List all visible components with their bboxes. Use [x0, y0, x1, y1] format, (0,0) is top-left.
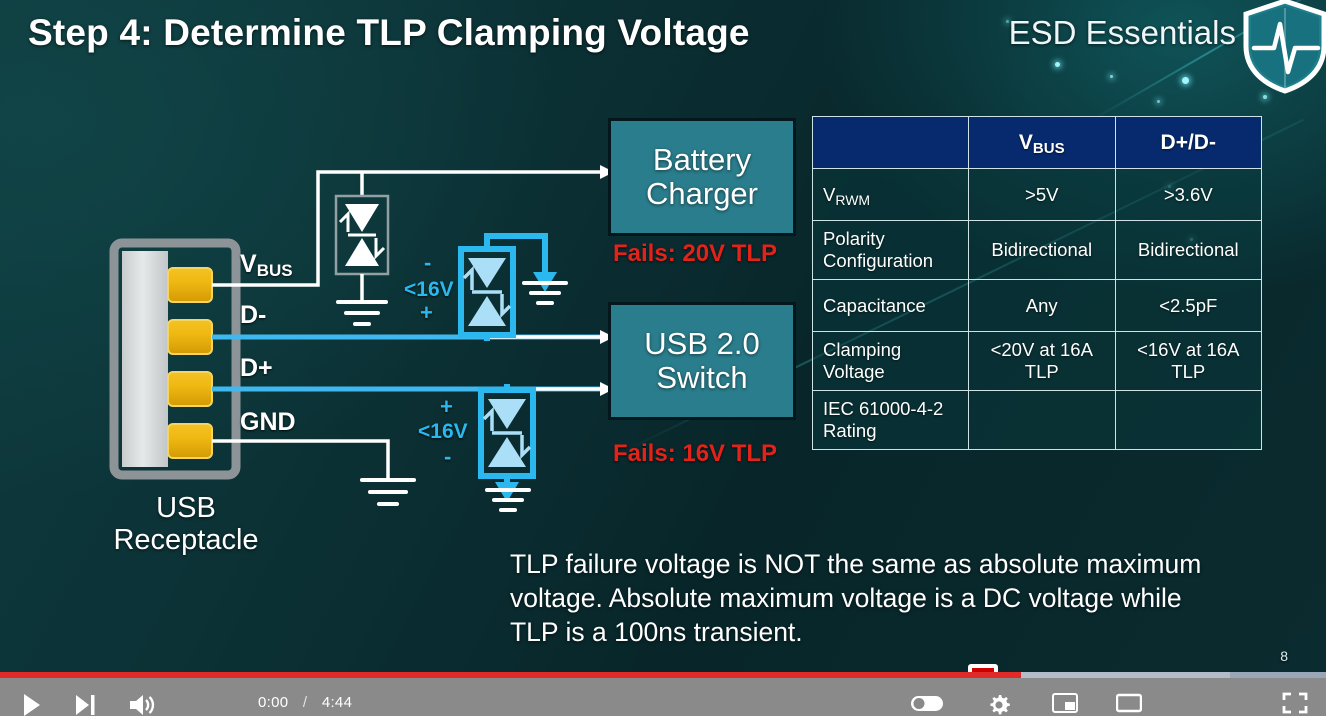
battery-charger-fail-label: Fails: 20V TLP	[613, 240, 777, 268]
cell-capacitance-vbus: Any	[969, 280, 1116, 332]
slide-number: 8	[1280, 648, 1288, 664]
slide-canvas: Step 4: Determine TLP Clamping Voltage E…	[0, 0, 1326, 672]
usb-switch-fail-label: Fails: 16V TLP	[613, 440, 777, 468]
controls-row: 0:00 / 4:44	[0, 678, 1326, 716]
table-header-vbus: VBUS	[969, 117, 1116, 169]
usb-caption-line1: USB	[96, 492, 276, 524]
tvs-top-minus-sign: -	[424, 250, 431, 276]
usb-switch-line1: USB 2.0	[644, 327, 759, 361]
pin-label-dplus: D+	[240, 354, 273, 383]
slide-caption: TLP failure voltage is NOT the same as a…	[510, 548, 1210, 650]
block-battery-charger: Battery Charger	[608, 118, 796, 236]
decorative-particle	[1110, 75, 1113, 78]
table-header-row: VBUS D+/D-	[813, 117, 1262, 169]
pin-label-dminus: D-	[240, 301, 266, 330]
table-row: IEC 61000-4-2 Rating	[813, 391, 1262, 450]
theater-mode-icon[interactable]	[1116, 692, 1142, 714]
texas-instruments-logo: TEXAS INSTRUMENTS	[966, 656, 1216, 672]
decorative-particle	[1182, 77, 1189, 84]
row-label-polarity: Polarity Configuration	[813, 221, 969, 280]
requirements-table: VBUS D+/D- VRWM >5V >3.6V Polarity Confi…	[812, 116, 1262, 450]
pin-label-gnd: GND	[240, 408, 296, 437]
fullscreen-icon[interactable]	[1282, 692, 1308, 714]
pin-label-vbus: VBUS	[240, 250, 293, 279]
decorative-particle	[1263, 95, 1267, 99]
play-icon[interactable]	[18, 692, 44, 716]
cell-iec-vbus	[969, 391, 1116, 450]
row-label-vrwm: VRWM	[813, 169, 969, 221]
duration: 4:44	[322, 694, 352, 711]
video-player-controls[interactable]: 0:00 / 4:44	[0, 672, 1326, 716]
time-separator: /	[303, 694, 307, 711]
miniplayer-icon[interactable]	[1052, 692, 1078, 714]
time-display: 0:00 / 4:44	[258, 694, 352, 711]
cell-clamping-vbus: <20V at 16A TLP	[969, 332, 1116, 391]
table-row: Capacitance Any <2.5pF	[813, 280, 1262, 332]
row-label-clamping: Clamping Voltage	[813, 332, 969, 391]
cell-vrwm-ddata: >3.6V	[1115, 169, 1262, 221]
cell-capacitance-ddata: <2.5pF	[1115, 280, 1262, 332]
cell-vrwm-vbus: >5V	[969, 169, 1116, 221]
battery-charger-line2: Charger	[646, 177, 758, 211]
cell-polarity-vbus: Bidirectional	[969, 221, 1116, 280]
table-row: Polarity Configuration Bidirectional Bid…	[813, 221, 1262, 280]
table-row: VRWM >5V >3.6V	[813, 169, 1262, 221]
row-label-capacitance: Capacitance	[813, 280, 969, 332]
autoplay-toggle-icon[interactable]	[910, 692, 944, 714]
tvs-bottom-plus-sign: +	[440, 394, 453, 420]
table-row: Clamping Voltage <20V at 16A TLP <16V at…	[813, 332, 1262, 391]
current-time: 0:00	[258, 694, 288, 711]
block-usb-switch: USB 2.0 Switch	[608, 302, 796, 420]
decorative-particle	[1157, 100, 1160, 103]
decorative-particle	[1055, 62, 1060, 67]
tvs-top-plus-sign: +	[420, 300, 433, 326]
usb-receptacle-caption: USB Receptacle	[96, 492, 276, 557]
cell-clamping-ddata: <16V at 16A TLP	[1115, 332, 1262, 391]
row-label-iec: IEC 61000-4-2 Rating	[813, 391, 969, 450]
next-track-icon[interactable]	[72, 692, 98, 716]
usb-caption-line2: Receptacle	[96, 524, 276, 556]
battery-charger-line1: Battery	[646, 143, 758, 177]
table-header-blank	[813, 117, 969, 169]
tvs-top-voltage-label: <16V	[404, 278, 454, 302]
volume-icon[interactable]	[128, 692, 156, 716]
cell-iec-ddata	[1115, 391, 1262, 450]
settings-gear-icon[interactable]	[986, 692, 1012, 716]
shield-heartbeat-icon	[1240, 0, 1326, 94]
usb-switch-line2: Switch	[644, 361, 759, 395]
table-header-ddata: D+/D-	[1115, 117, 1262, 169]
cell-polarity-ddata: Bidirectional	[1115, 221, 1262, 280]
tvs-bottom-minus-sign: -	[444, 444, 451, 470]
brand-label: ESD Essentials	[1009, 14, 1236, 52]
tvs-bottom-voltage-label: <16V	[418, 420, 468, 444]
video-player-stage: Step 4: Determine TLP Clamping Voltage E…	[0, 0, 1326, 716]
